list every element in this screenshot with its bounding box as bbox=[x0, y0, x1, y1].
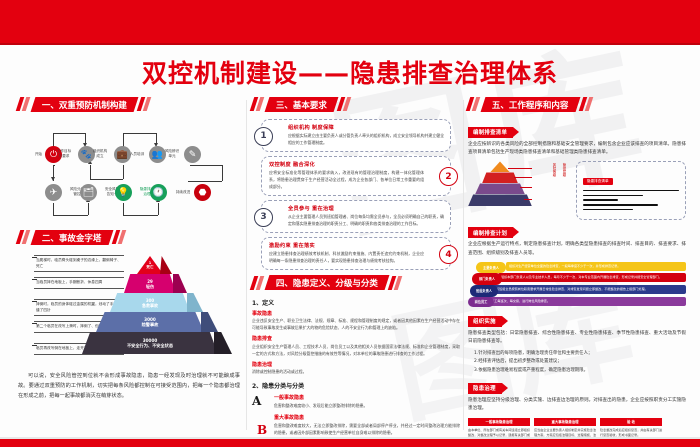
section-1-title: 一、双重预防机制构建 bbox=[42, 98, 127, 110]
section-2-title: 二、事故金字塔 bbox=[42, 231, 102, 243]
checklist-illustration-row: 风险等级 管控层级 隐患排查清单 bbox=[468, 161, 686, 219]
flow-node-end[interactable]: ⬣ bbox=[194, 184, 211, 201]
flow-node-start-label: 开始 bbox=[22, 152, 42, 157]
column-right: 五、工作程序和内容 编制排查清单 企业应按辨识的各类风险的全部控制措施和基础安全… bbox=[468, 96, 686, 447]
table-row-content: 岗位员工每班次、每交接、进行岗位风险排查。 bbox=[482, 297, 686, 306]
mini-pyramid-leader bbox=[508, 168, 532, 169]
grade-body: 危害和整改难度较大，无法立即整改排除，需要全部或者局部停产停业，并经过一定时间整… bbox=[274, 423, 460, 437]
flow-connector bbox=[90, 165, 91, 179]
pyramid-level-1: 1 死亡 bbox=[137, 256, 163, 274]
requirement-list: 1 组织机构 制度保障 应根据实际建立由主要负责人或分管负责人牵头的组织机构，成… bbox=[252, 119, 460, 270]
risk-mini-pyramid bbox=[468, 161, 546, 207]
checklist-line bbox=[583, 195, 643, 196]
flow-node-plane[interactable]: ✈ bbox=[45, 184, 62, 201]
step-flag-label: 编制排查清单 bbox=[473, 128, 507, 136]
poster-canvas: 图库 图库 双控机制建设——隐患排查治理体系 一、双重预防机制构建 bbox=[0, 0, 700, 447]
pyramid-level-1-label: 死亡 bbox=[146, 265, 153, 269]
pyramid-level-4: 3000 险警事故 bbox=[96, 312, 204, 332]
mini-pyramid-level-4 bbox=[468, 194, 532, 206]
section-4-header: 四、隐患定义、分级与分类 bbox=[252, 275, 460, 291]
pyramid-level-5-side bbox=[214, 332, 232, 354]
requirement-body: 应将安全标准化等管理体系的要求纳入，改进现有的管理治理制度，构建一体化管理体系，… bbox=[269, 170, 424, 190]
table-row-pill: 主要负责人 bbox=[476, 262, 506, 273]
flow-arrow-icon bbox=[51, 177, 55, 181]
flow-node-bulb[interactable]: 💡 bbox=[115, 184, 132, 201]
step-body-implementation: 隐患排查类型包括：日常隐患排查、综合性隐患排查、专业性隐患排查、季节性隐患排查、… bbox=[468, 330, 686, 347]
table-row-text: 组织对生产经营单位全面的隐患排查，一般每季度不少于一次，并形成排查记录。 bbox=[506, 262, 686, 271]
table-row-pill: 班组负责人 bbox=[470, 285, 498, 297]
requirement-card[interactable]: 2 双控制度 融合深化 应将安全标准化等管理体系的要求纳入，改进现有的管理治理制… bbox=[261, 156, 451, 195]
pyramid-desc-2: 当临员摔在地板上，手腕断折、休息四周 bbox=[34, 277, 124, 289]
section-4-title: 四、隐患定义、分级与分类 bbox=[276, 277, 378, 289]
requirement-title: 组织机构 制度保障 bbox=[288, 124, 444, 131]
definitions-block: 1、定义 事故隐患 企业违反安全生产、职业卫生法律、法规、规章、标准、规程和管理… bbox=[252, 298, 460, 437]
requirement-number-badge: 1 bbox=[254, 127, 273, 146]
column-divider-1 bbox=[246, 100, 247, 430]
step-flag-label: 隐患治理 bbox=[473, 384, 496, 392]
requirement-body: 从企业主要管理人员到班组管理者、岗位每条均需全员参与，全员必须明确自己的职责，确… bbox=[288, 214, 444, 228]
top-red-bar bbox=[0, 0, 700, 45]
column-divider-2 bbox=[463, 100, 464, 430]
definitions-subtitle: 1、定义 bbox=[252, 298, 460, 307]
definition-term: 隐患排查 bbox=[252, 335, 460, 342]
definition-term: 事故隐患 bbox=[252, 310, 460, 317]
table-row-content: 组织班组全员按照岗位职责要求开展日常性隐患排查，对排查发现问题立即整改，不能整改… bbox=[490, 285, 686, 294]
requirement-title: 激励约束 重在落实 bbox=[269, 242, 424, 249]
section-5-title: 五、工作程序和内容 bbox=[492, 98, 569, 110]
flow-connector bbox=[53, 203, 54, 215]
vertical-label: 管控层级 bbox=[562, 163, 567, 177]
table-row-text: 岗位员工每班次、每交接、进行岗位风险排查。 bbox=[482, 297, 686, 306]
flow-node-label-training: 人员培训 bbox=[124, 152, 150, 157]
requirement-body: 应建立隐患排查治理绩效考核机制、科技激励约束措施、内置责任追究约束机制，企业应明… bbox=[269, 251, 424, 265]
flow-connector bbox=[90, 179, 123, 180]
pyramid-level-4-side bbox=[201, 312, 218, 332]
grade-body: 危害和整改难度较小、发现后能立即整改排除的隐患。 bbox=[274, 403, 460, 410]
pyramid-level-5-label: 不安全行为、不安全状态 bbox=[127, 343, 173, 348]
treatment-box-title: 验 收 bbox=[600, 418, 662, 426]
list-item: 2.经排查评估后，提出初步整改或处置建议； bbox=[474, 358, 686, 367]
checklist-panel-title: 隐患排查清单 bbox=[583, 178, 613, 185]
flow-connector bbox=[123, 165, 124, 179]
grade-letter-a-icon: A bbox=[252, 394, 261, 408]
step-flag-label: 编制排查计划 bbox=[473, 229, 507, 237]
mini-pyramid-level-1 bbox=[490, 161, 510, 172]
mini-pyramid-leader bbox=[524, 199, 532, 200]
step-flag-treatment[interactable]: 隐患治理 bbox=[468, 383, 502, 394]
dual-prevention-flowchart: ⏻ 开始 🐾 工作目标与要求 💼 组织机构成立 👥 人员培训 ✎ 风险辨识单元 … bbox=[18, 119, 240, 227]
mini-pyramid-leader bbox=[520, 187, 532, 188]
flow-connector bbox=[190, 165, 222, 166]
section-5-header: 五、工作程序和内容 bbox=[468, 96, 686, 112]
flow-node-edit[interactable]: ✎ bbox=[184, 146, 201, 163]
pyramid-level-5: 30000 不安全行为、不安全状态 bbox=[82, 332, 218, 354]
requirement-card[interactable]: 1 组织机构 制度保障 应根据实际建立由主要负责人或分管负责人牵头的组织机构，成… bbox=[261, 119, 451, 152]
table-row: 班组负责人 组织班组全员按照岗位职责要求开展日常性隐患排查，对排查发现问题立即整… bbox=[490, 285, 686, 294]
vertical-label: 风险等级 bbox=[552, 163, 557, 177]
definition-body: 企业组织安全生产管理人员、工程技术人员、岗位员工以及其他相关人员依据国家法律法规… bbox=[252, 344, 460, 358]
implementation-step-list: 1.针对排查出的每项隐患，明确治理责任单位和主要责任人； 2.经排查评估后，提出… bbox=[468, 350, 686, 376]
table-row-content: 组织本部门负责人以及专业技术人员，每月不少于一次，对本专业范围内开展隐患排查，形… bbox=[498, 273, 686, 282]
flow-connector bbox=[222, 165, 223, 181]
requirement-card[interactable]: 3 全员参与 重在治理 从企业主要管理人员到班组管理者、岗位每条均需全员参与，全… bbox=[261, 200, 451, 233]
section-3-title: 三、基本要求 bbox=[276, 98, 327, 110]
grade-title: 一般事故隐患 bbox=[274, 394, 460, 401]
classification-subtitle: 2、隐患分类与分类 bbox=[252, 381, 460, 390]
grade-letter-b-icon: B bbox=[257, 423, 267, 437]
table-row: 岗位员工 岗位员工每班次、每交接、进行岗位风险排查。 bbox=[482, 297, 686, 306]
flow-node-label-goals: 工作目标与要求 bbox=[51, 149, 77, 160]
step-flag-label: 组织实施 bbox=[473, 317, 496, 325]
table-row-text: 组织本部门负责人以及专业技术人员，每月不少于一次，对本专业范围内开展隐患排查，形… bbox=[498, 273, 686, 282]
flow-connector bbox=[88, 203, 89, 215]
requirement-number-badge: 4 bbox=[439, 245, 458, 264]
flow-connector bbox=[158, 203, 159, 215]
pyramid-level-4-label: 险警事故 bbox=[142, 322, 159, 327]
mini-pyramid-vertical-labels: 风险等级 管控层级 bbox=[550, 161, 572, 207]
flow-connector bbox=[123, 133, 156, 134]
checklist-line bbox=[583, 190, 679, 191]
table-row-pill: 岗位员工 bbox=[468, 297, 494, 307]
column-left: 一、双重预防机制构建 bbox=[18, 96, 240, 402]
pyramid-desc-1: 当爬梯时，临员脊头碰到桌子的边缘上，翻倒椅子、死亡 bbox=[34, 255, 124, 272]
flow-node-label-risk-id: 风险辨识单元 bbox=[159, 149, 185, 160]
table-row-content: 组织对生产经营单位全面的隐患排查，一般每季度不少于一次，并形成排查记录。 bbox=[506, 262, 686, 271]
column-middle: 三、基本要求 1 组织机构 制度保障 应根据实际建立由主要负责人或分管负责人牵头… bbox=[252, 96, 460, 437]
table-row-text: 组织班组全员按照岗位职责要求开展日常性隐患排查，对排查发现问题立即整改，不能整改… bbox=[490, 285, 686, 294]
table-row-pill: 部门负责人 bbox=[472, 273, 502, 285]
requirement-number-badge: 2 bbox=[439, 167, 458, 186]
step-body-checklist: 企业应按辨识的各类风险的全部控制措施和基础安全管理要求，编制包含企业应该排查的项… bbox=[468, 141, 686, 158]
requirement-number-badge: 3 bbox=[254, 208, 273, 227]
flow-connector bbox=[123, 203, 124, 215]
checklist-line bbox=[583, 199, 618, 200]
grade-item-a: A 一般事故隐患 危害和整改难度较小、发现后能立即整改排除的隐患。 bbox=[252, 394, 460, 410]
list-item: 3.依据隐患治理难易程度或产重程度，确定隐患治理期限。 bbox=[474, 367, 686, 376]
section-1-header: 一、双重预防机制构建 bbox=[18, 96, 240, 112]
treatment-box-title: 重大事故隐患治理 bbox=[534, 418, 596, 426]
flow-connector bbox=[123, 215, 158, 216]
grade-title: 重大事故隐患 bbox=[274, 414, 460, 421]
pyramid-level-3-side bbox=[187, 293, 203, 312]
table-row: 部门负责人 组织本部门负责人以及专业技术人员，每月不少于一次，对本专业范围内开展… bbox=[498, 273, 686, 282]
list-item: 1.针对排查出的每项隐患，明确治理责任单位和主要责任人； bbox=[474, 350, 686, 359]
mini-pyramid-level-3 bbox=[475, 183, 525, 194]
table-row: 主要负责人 组织对生产经营单位全面的隐患排查，一般每季度不少于一次，并形成排查记… bbox=[506, 262, 686, 271]
checklist-line bbox=[583, 209, 633, 210]
pyramid-level-1-side bbox=[160, 256, 172, 274]
definition-body: 企业违反安全生产、职业卫生法律、法规、规章、标准、规程和管理制度的规定，或者因其… bbox=[252, 318, 460, 332]
flow-connector bbox=[53, 215, 88, 216]
flow-node-label-improve: 持续改进 bbox=[170, 190, 196, 195]
flow-connector bbox=[53, 133, 54, 147]
mini-pyramid-leader bbox=[514, 177, 532, 178]
flow-node-label-org: 组织机构成立 bbox=[87, 149, 113, 160]
checklist-panel: 隐患排查清单 bbox=[576, 161, 686, 219]
flow-connector bbox=[53, 165, 55, 166]
requirement-title: 双控制度 融合深化 bbox=[269, 161, 424, 168]
step-flag-implementation[interactable]: 组织实施 bbox=[468, 316, 502, 327]
bottom-red-bar bbox=[0, 439, 700, 447]
section-3-header: 三、基本要求 bbox=[252, 96, 460, 112]
flow-connector bbox=[123, 133, 124, 147]
flow-connector bbox=[53, 133, 85, 134]
definition-term: 隐患治理 bbox=[252, 361, 460, 368]
requirement-title: 全员参与 重在治理 bbox=[288, 205, 444, 212]
step-flag-checklist[interactable]: 编制排查清单 bbox=[468, 127, 513, 138]
section-2-footer-paragraph: 可以说，安全风险管控到位就不会形成事故隐患，隐患一经发现及时治理就不可能酿成事故… bbox=[18, 372, 240, 402]
pyramid-level-3-label: 急救事故 bbox=[142, 303, 158, 308]
mini-pyramid-level-2 bbox=[482, 172, 518, 183]
grade-item-b: B 重大事故隐患 危害和整改难度较大，无法立即整改排除，需要全部或者局部停产停业… bbox=[252, 414, 460, 436]
flow-node-clock[interactable]: 🕐 bbox=[150, 184, 167, 201]
checklist-line bbox=[583, 204, 658, 205]
section-2-header: 二、事故金字塔 bbox=[18, 229, 240, 245]
definition-body: 消除或控制隐患的活动或过程。 bbox=[252, 369, 460, 376]
flow-node-file[interactable]: 🗂 bbox=[80, 184, 97, 201]
treatment-box-title: 一般事故隐患治理 bbox=[468, 418, 530, 426]
pyramid-level-3: 300 急救事故 bbox=[110, 293, 190, 312]
pyramid-level-2-side bbox=[173, 274, 187, 293]
requirement-body: 应根据实际建立由主要负责人或分管负责人牵头的组织机构，成立安全领导机构并建立健全… bbox=[288, 133, 444, 147]
inspection-levels-table: 主要负责人 组织对生产经营单位全面的隐患排查，一般每季度不少于一次，并形成排查记… bbox=[468, 262, 686, 308]
accident-pyramid: 当爬梯时，临员脊头碰到桌子的边缘上，翻倒椅子、死亡 当临员摔在地板上，手腕断折、… bbox=[18, 252, 240, 370]
flow-connector bbox=[188, 181, 222, 182]
pyramid-level-2: 29 轻伤 bbox=[124, 274, 176, 293]
step-flag-plan[interactable]: 编制排查计划 bbox=[468, 227, 513, 238]
pyramid-level-2-label: 轻伤 bbox=[146, 284, 154, 289]
step-body-treatment: 隐患治理应坚持分级治理、分类实施、边排查边治理的原则。对排查出的隐患，企业应按照… bbox=[468, 397, 686, 414]
top-red-bar-shade bbox=[0, 43, 700, 45]
step-body-plan: 企业应根据生产运行特点，制定隐患排查计划，明确各类型隐患排查的排查时间、排查目的… bbox=[468, 241, 686, 258]
page-title: 双控机制建设——隐患排查治理体系 bbox=[0, 54, 700, 90]
requirement-card[interactable]: 4 激励约束 重在落实 应建立隐患排查治理绩效考核机制、科技激励约束措施、内置责… bbox=[261, 237, 451, 270]
